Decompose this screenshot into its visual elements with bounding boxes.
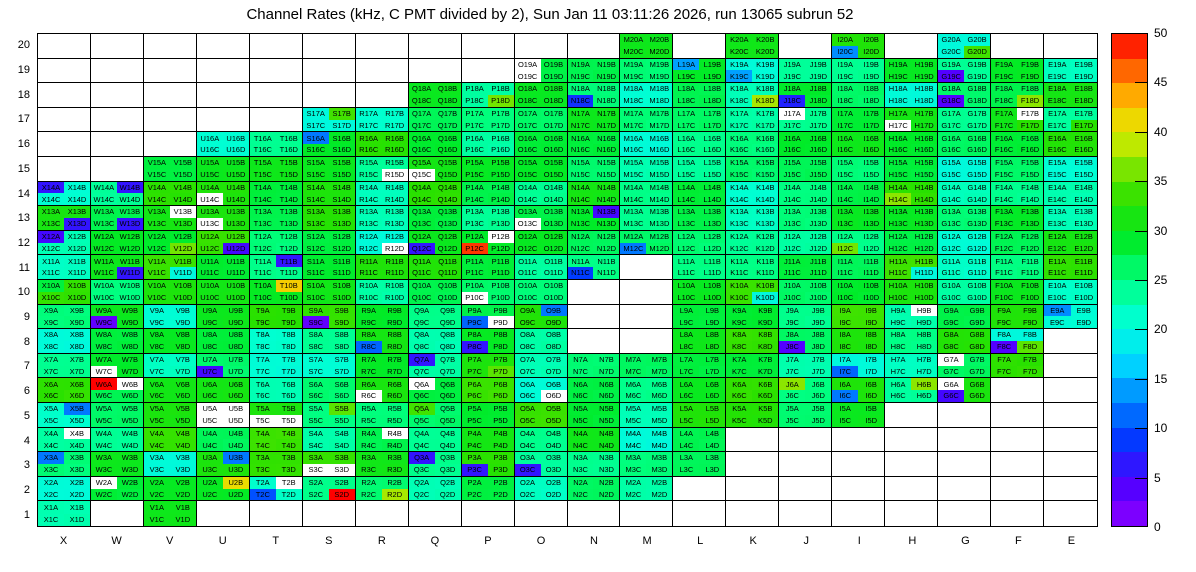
heatmap-cell[interactable]: T8AT8BT8CT8D (250, 329, 303, 354)
channel-subcell[interactable]: S9A (303, 305, 329, 317)
channel-subcell[interactable]: U4B (223, 428, 249, 440)
heatmap-cell[interactable]: M17AM17BM17CM17D (620, 108, 673, 133)
channel-subcell[interactable]: G10D (964, 292, 990, 304)
channel-subcell[interactable]: M4B (646, 428, 672, 440)
channel-subcell[interactable]: S17A (303, 108, 329, 120)
channel-subcell[interactable]: J17D (805, 120, 831, 132)
heatmap-cell[interactable]: J17AJ17BJ17CJ17D (779, 108, 832, 133)
channel-subcell[interactable]: G19C (938, 70, 964, 82)
channel-subcell[interactable]: R7A (356, 354, 382, 366)
heatmap-cell[interactable]: J5AJ5BJ5CJ5D (779, 403, 832, 428)
heatmap-cell[interactable]: G13AG13BG13CG13D (938, 206, 991, 231)
channel-subcell[interactable]: R7C (356, 366, 382, 378)
channel-subcell[interactable]: V3C (144, 464, 170, 476)
channel-subcell[interactable]: M2C (620, 489, 646, 501)
channel-subcell[interactable]: M17D (646, 120, 672, 132)
channel-subcell[interactable]: U10D (223, 292, 249, 304)
heatmap-cell[interactable]: O18AO18BO18CO18D (515, 83, 568, 108)
channel-subcell[interactable]: M6C (620, 390, 646, 402)
channel-subcell[interactable]: E14D (1071, 193, 1097, 205)
channel-subcell[interactable]: H14A (885, 182, 911, 194)
channel-subcell[interactable]: G15C (938, 169, 964, 181)
heatmap-cell[interactable] (38, 59, 91, 84)
channel-subcell[interactable]: S5B (329, 403, 355, 415)
heatmap-cell[interactable]: J12AJ12BJ12CJ12D (779, 231, 832, 256)
heatmap-cell[interactable]: F19AF19BF19CF19D (991, 59, 1044, 84)
channel-subcell[interactable]: T3B (276, 452, 302, 464)
heatmap-cell[interactable]: R12AR12BR12CR12D (356, 231, 409, 256)
heatmap-cell[interactable]: O10AO10BO10CO10D (515, 280, 568, 305)
channel-subcell[interactable]: F7A (991, 354, 1017, 366)
channel-subcell[interactable]: U3A (197, 452, 223, 464)
channel-subcell[interactable]: L12A (673, 231, 699, 243)
channel-subcell[interactable]: P5D (488, 415, 514, 427)
channel-subcell[interactable]: G16A (938, 132, 964, 144)
channel-subcell[interactable]: P2C (462, 489, 488, 501)
channel-subcell[interactable]: R15C (356, 169, 382, 181)
channel-subcell[interactable]: I8B (858, 329, 884, 341)
heatmap-cell[interactable]: K9AK9BK9CK9D (726, 305, 779, 330)
channel-subcell[interactable]: O7D (541, 366, 567, 378)
channel-subcell[interactable]: O17A (515, 108, 541, 120)
heatmap-cell[interactable]: O6AO6BO6CO6D (515, 378, 568, 403)
channel-subcell[interactable]: O2B (541, 477, 567, 489)
channel-subcell[interactable]: L14D (699, 193, 725, 205)
channel-subcell[interactable]: I17A (832, 108, 858, 120)
channel-subcell[interactable]: I9B (858, 305, 884, 317)
channel-subcell[interactable]: S14D (329, 193, 355, 205)
heatmap-cell[interactable]: E16AE16BE16CE16D (1044, 132, 1097, 157)
heatmap-cell[interactable]: P17AP17BP17CP17D (462, 108, 515, 133)
channel-subcell[interactable]: M12C (620, 243, 646, 255)
channel-subcell[interactable]: U3D (223, 464, 249, 476)
heatmap-cell[interactable]: K12AK12BK12CK12D (726, 231, 779, 256)
channel-subcell[interactable]: I9D (858, 316, 884, 328)
channel-subcell[interactable]: G12D (964, 243, 990, 255)
heatmap-cell[interactable]: S10AS10BS10CS10D (303, 280, 356, 305)
channel-subcell[interactable]: V3D (170, 464, 196, 476)
channel-subcell[interactable]: P17A (462, 108, 488, 120)
heatmap-cell[interactable]: X6AX6BX6CX6D (38, 378, 91, 403)
channel-subcell[interactable]: W7A (91, 354, 117, 366)
channel-subcell[interactable]: T5B (276, 403, 302, 415)
channel-subcell[interactable]: M5B (646, 403, 672, 415)
channel-subcell[interactable]: X3B (64, 452, 90, 464)
channel-subcell[interactable]: T5A (250, 403, 276, 415)
channel-subcell[interactable]: P4B (488, 428, 514, 440)
channel-subcell[interactable]: X14A (38, 182, 64, 194)
heatmap-cell[interactable]: Q7AQ7BQ7CQ7D (409, 354, 462, 379)
heatmap-cell[interactable]: L16AL16BL16CL16D (673, 132, 726, 157)
channel-subcell[interactable]: F7D (1017, 366, 1043, 378)
channel-subcell[interactable]: H18A (885, 83, 911, 95)
channel-subcell[interactable]: K11A (726, 255, 752, 267)
channel-subcell[interactable]: G20B (964, 34, 990, 46)
channel-subcell[interactable]: P13D (488, 218, 514, 230)
channel-subcell[interactable]: F14C (991, 193, 1017, 205)
channel-subcell[interactable]: X6A (38, 378, 64, 390)
heatmap-cell[interactable]: G10AG10BG10CG10D (938, 280, 991, 305)
channel-subcell[interactable]: G13C (938, 218, 964, 230)
channel-subcell[interactable]: O11A (515, 255, 541, 267)
heatmap-cell[interactable] (991, 428, 1044, 453)
channel-subcell[interactable]: N6C (568, 390, 594, 402)
channel-subcell[interactable]: I11A (832, 255, 858, 267)
channel-subcell[interactable]: V13A (144, 206, 170, 218)
channel-subcell[interactable]: V9A (144, 305, 170, 317)
channel-subcell[interactable]: O16A (515, 132, 541, 144)
channel-subcell[interactable]: N2A (568, 477, 594, 489)
heatmap-cell[interactable] (832, 428, 885, 453)
channel-subcell[interactable]: J16C (779, 144, 805, 156)
channel-subcell[interactable]: M15D (646, 169, 672, 181)
channel-subcell[interactable]: L17B (699, 108, 725, 120)
channel-subcell[interactable]: Q11A (409, 255, 435, 267)
channel-subcell[interactable]: U11C (197, 267, 223, 279)
heatmap-cell[interactable]: O5AO5BO5CO5D (515, 403, 568, 428)
channel-subcell[interactable]: I7D (858, 366, 884, 378)
heatmap-cell[interactable] (91, 59, 144, 84)
heatmap-cell[interactable]: T5AT5BT5CT5D (250, 403, 303, 428)
heatmap-cell[interactable]: W9AW9BW9CW9D (91, 305, 144, 330)
channel-subcell[interactable]: T3C (250, 464, 276, 476)
heatmap-cell[interactable]: M19AM19BM19CM19D (620, 59, 673, 84)
channel-subcell[interactable]: R9D (382, 316, 408, 328)
channel-subcell[interactable]: K16A (726, 132, 752, 144)
channel-subcell[interactable]: T14A (250, 182, 276, 194)
heatmap-cell[interactable]: K7AK7BK7CK7D (726, 354, 779, 379)
channel-subcell[interactable]: O3B (541, 452, 567, 464)
channel-subcell[interactable]: G11C (938, 267, 964, 279)
channel-subcell[interactable]: W6C (91, 390, 117, 402)
heatmap-cell[interactable]: U11AU11BU11CU11D (197, 255, 250, 280)
heatmap-cell[interactable]: M13AM13BM13CM13D (620, 206, 673, 231)
channel-subcell[interactable]: G20D (964, 46, 990, 58)
channel-subcell[interactable]: U9D (223, 316, 249, 328)
heatmap-cell[interactable]: V10AV10BV10CV10D (144, 280, 197, 305)
channel-subcell[interactable]: L15B (699, 157, 725, 169)
channel-subcell[interactable]: N15C (568, 169, 594, 181)
channel-subcell[interactable]: U7B (223, 354, 249, 366)
channel-subcell[interactable]: S3D (329, 464, 355, 476)
heatmap-cell[interactable]: P14AP14BP14CP14D (462, 182, 515, 207)
heatmap-cell[interactable]: Q16AQ16BQ16CQ16D (409, 132, 462, 157)
channel-subcell[interactable]: G8D (964, 341, 990, 353)
channel-subcell[interactable]: E13A (1044, 206, 1070, 218)
channel-subcell[interactable]: F11B (1017, 255, 1043, 267)
channel-subcell[interactable]: X7B (64, 354, 90, 366)
heatmap-cell[interactable]: X13AX13BX13CX13D (38, 206, 91, 231)
channel-subcell[interactable]: U7C (197, 366, 223, 378)
channel-subcell[interactable]: Q13C (409, 218, 435, 230)
channel-subcell[interactable]: K16B (752, 132, 778, 144)
channel-subcell[interactable]: X13B (64, 206, 90, 218)
heatmap-cell[interactable]: H7AH7BH7CH7D (885, 354, 938, 379)
channel-subcell[interactable]: Q16D (435, 144, 461, 156)
channel-subcell[interactable]: S7C (303, 366, 329, 378)
channel-subcell[interactable]: S2C (303, 489, 329, 501)
channel-subcell[interactable]: X5A (38, 403, 64, 415)
channel-subcell[interactable]: P16B (488, 132, 514, 144)
channel-subcell[interactable]: K13A (726, 206, 752, 218)
heatmap-cell[interactable] (250, 501, 303, 526)
heatmap-cell[interactable]: V6AV6BV6CV6D (144, 378, 197, 403)
channel-subcell[interactable]: N13D (593, 218, 619, 230)
channel-subcell[interactable]: L10B (699, 280, 725, 292)
channel-subcell[interactable]: X3A (38, 452, 64, 464)
channel-subcell[interactable]: V12B (170, 231, 196, 243)
channel-subcell[interactable]: R2D (382, 489, 408, 501)
heatmap-cell[interactable]: X8AX8BX8CX8D (38, 329, 91, 354)
channel-subcell[interactable]: M3A (620, 452, 646, 464)
heatmap-cell[interactable]: I6AI6BI6CI6D (832, 378, 885, 403)
heatmap-cell[interactable]: J14AJ14BJ14CJ14D (779, 182, 832, 207)
channel-subcell[interactable]: M6B (646, 378, 672, 390)
channel-subcell[interactable]: V1C (144, 514, 170, 526)
heatmap-cell[interactable] (144, 34, 197, 59)
channel-subcell[interactable]: X9A (38, 305, 64, 317)
channel-subcell[interactable]: O14A (515, 182, 541, 194)
heatmap-cell[interactable]: X2AX2BX2CX2D (38, 477, 91, 502)
channel-subcell[interactable]: Q17B (435, 108, 461, 120)
channel-subcell[interactable]: G17B (964, 108, 990, 120)
heatmap-cell[interactable]: T10AT10BT10CT10D (250, 280, 303, 305)
channel-subcell[interactable]: T16C (250, 144, 276, 156)
channel-subcell[interactable]: L7C (673, 366, 699, 378)
heatmap-cell[interactable]: M4AM4BM4CM4D (620, 428, 673, 453)
channel-subcell[interactable]: L9B (699, 305, 725, 317)
channel-subcell[interactable]: S4A (303, 428, 329, 440)
channel-subcell[interactable]: K12D (752, 243, 778, 255)
channel-subcell[interactable]: J12C (779, 243, 805, 255)
channel-subcell[interactable]: Q11D (435, 267, 461, 279)
channel-subcell[interactable]: I17C (832, 120, 858, 132)
channel-subcell[interactable]: J5C (779, 415, 805, 427)
channel-subcell[interactable]: G18D (964, 95, 990, 107)
channel-subcell[interactable]: S11B (329, 255, 355, 267)
channel-subcell[interactable]: T13B (276, 206, 302, 218)
heatmap-cell[interactable]: N7AN7BN7CN7D (568, 354, 621, 379)
heatmap-cell[interactable]: N15AN15BN15CN15D (568, 157, 621, 182)
channel-subcell[interactable]: U14D (223, 193, 249, 205)
heatmap-cell[interactable]: G7AG7BG7CG7D (938, 354, 991, 379)
heatmap-cell[interactable]: O19AO19BO19CO19D (515, 59, 568, 84)
channel-subcell[interactable]: V11B (170, 255, 196, 267)
heatmap-cell[interactable]: G16AG16BG16CG16D (938, 132, 991, 157)
heatmap-cell[interactable] (991, 403, 1044, 428)
heatmap-cell[interactable]: U10AU10BU10CU10D (197, 280, 250, 305)
heatmap-cell[interactable]: X12AX12BX12CX12D (38, 231, 91, 256)
channel-subcell[interactable]: W9A (91, 305, 117, 317)
channel-subcell[interactable]: S10A (303, 280, 329, 292)
channel-subcell[interactable]: H11A (885, 255, 911, 267)
channel-subcell[interactable]: S11C (303, 267, 329, 279)
channel-subcell[interactable]: P10C (462, 292, 488, 304)
heatmap-cell[interactable]: U13AU13BU13CU13D (197, 206, 250, 231)
channel-subcell[interactable]: X3D (64, 464, 90, 476)
channel-subcell[interactable]: U6A (197, 378, 223, 390)
channel-subcell[interactable]: F10A (991, 280, 1017, 292)
channel-subcell[interactable]: F18A (991, 83, 1017, 95)
channel-subcell[interactable]: J12B (805, 231, 831, 243)
heatmap-cell[interactable]: E15AE15BE15CE15D (1044, 157, 1097, 182)
heatmap-cell[interactable] (938, 477, 991, 502)
heatmap-cell[interactable]: N19AN19BN19CN19D (568, 59, 621, 84)
heatmap-cell[interactable]: W5AW5BW5CW5D (91, 403, 144, 428)
channel-subcell[interactable]: H17B (911, 108, 937, 120)
channel-subcell[interactable]: N12A (568, 231, 594, 243)
channel-subcell[interactable]: H13D (911, 218, 937, 230)
channel-subcell[interactable]: Q14C (409, 193, 435, 205)
channel-subcell[interactable]: H8A (885, 329, 911, 341)
channel-subcell[interactable]: F16C (991, 144, 1017, 156)
heatmap-cell[interactable] (197, 108, 250, 133)
channel-subcell[interactable]: G17D (964, 120, 990, 132)
channel-subcell[interactable]: W2C (91, 489, 117, 501)
channel-subcell[interactable]: M13D (646, 218, 672, 230)
heatmap-cell[interactable] (1044, 354, 1097, 379)
heatmap-cell[interactable]: L9AL9BL9CL9D (673, 305, 726, 330)
heatmap-cell[interactable]: P2AP2BP2CP2D (462, 477, 515, 502)
channel-subcell[interactable]: Q9C (409, 316, 435, 328)
channel-subcell[interactable]: S17C (303, 120, 329, 132)
channel-subcell[interactable]: L16D (699, 144, 725, 156)
heatmap-cell[interactable] (250, 34, 303, 59)
heatmap-cell[interactable]: U6AU6BU6CU6D (197, 378, 250, 403)
heatmap-cell[interactable]: O4AO4BO4CO4D (515, 428, 568, 453)
channel-subcell[interactable]: O7B (541, 354, 567, 366)
channel-subcell[interactable]: J8B (805, 329, 831, 341)
channel-subcell[interactable]: K19B (752, 59, 778, 71)
channel-subcell[interactable]: H18B (911, 83, 937, 95)
channel-subcell[interactable]: T16B (276, 132, 302, 144)
channel-subcell[interactable]: Q16A (409, 132, 435, 144)
channel-subcell[interactable]: E12D (1071, 243, 1097, 255)
channel-subcell[interactable]: F14D (1017, 193, 1043, 205)
heatmap-cell[interactable] (885, 428, 938, 453)
channel-subcell[interactable]: N2C (568, 489, 594, 501)
channel-subcell[interactable]: J6C (779, 390, 805, 402)
channel-subcell[interactable]: H9B (911, 305, 937, 317)
heatmap-cell[interactable] (1044, 378, 1097, 403)
heatmap-cell[interactable]: U2AU2BU2CU2D (197, 477, 250, 502)
channel-subcell[interactable]: J7C (779, 366, 805, 378)
heatmap-cell[interactable]: F17AF17BF17CF17D (991, 108, 1044, 133)
channel-subcell[interactable]: V13C (144, 218, 170, 230)
heatmap-cell[interactable]: T2AT2BT2CT2D (250, 477, 303, 502)
channel-subcell[interactable]: P5C (462, 415, 488, 427)
channel-subcell[interactable]: H9A (885, 305, 911, 317)
channel-subcell[interactable]: V15A (144, 157, 170, 169)
heatmap-cell[interactable]: S8AS8BS8CS8D (303, 329, 356, 354)
channel-subcell[interactable]: L3B (699, 452, 725, 464)
channel-subcell[interactable]: W2B (117, 477, 143, 489)
heatmap-cell[interactable]: I8AI8BI8CI8D (832, 329, 885, 354)
heatmap-cell[interactable]: F16AF16BF16CF16D (991, 132, 1044, 157)
channel-subcell[interactable]: I5A (832, 403, 858, 415)
channel-subcell[interactable]: J10A (779, 280, 805, 292)
heatmap-cell[interactable]: W14AW14BW14CW14D (91, 182, 144, 207)
heatmap-cell[interactable]: G9AG9BG9CG9D (938, 305, 991, 330)
channel-subcell[interactable]: R10C (356, 292, 382, 304)
heatmap-cell[interactable]: P16AP16BP16CP16D (462, 132, 515, 157)
channel-subcell[interactable]: E18D (1071, 95, 1097, 107)
channel-subcell[interactable]: I20B (858, 34, 884, 46)
channel-subcell[interactable]: I11D (858, 267, 884, 279)
channel-subcell[interactable]: S10B (329, 280, 355, 292)
heatmap-cell[interactable]: L8AL8BL8CL8D (673, 329, 726, 354)
heatmap-cell[interactable]: N16AN16BN16CN16D (568, 132, 621, 157)
channel-subcell[interactable]: X2C (38, 489, 64, 501)
channel-subcell[interactable]: X2D (64, 489, 90, 501)
heatmap-cell[interactable]: R6AR6BR6CR6D (356, 378, 409, 403)
channel-subcell[interactable]: I20D (858, 46, 884, 58)
channel-subcell[interactable]: R6B (382, 378, 408, 390)
channel-subcell[interactable]: J12D (805, 243, 831, 255)
heatmap-cell[interactable]: U7AU7BU7CU7D (197, 354, 250, 379)
channel-subcell[interactable]: Q8D (435, 341, 461, 353)
channel-subcell[interactable]: O6D (541, 390, 567, 402)
channel-subcell[interactable]: X14C (38, 193, 64, 205)
channel-subcell[interactable]: T16D (276, 144, 302, 156)
heatmap-cell[interactable]: P9AP9BP9CP9D (462, 305, 515, 330)
channel-subcell[interactable]: H14D (911, 193, 937, 205)
channel-subcell[interactable]: H6C (885, 390, 911, 402)
heatmap-cell[interactable] (620, 501, 673, 526)
channel-subcell[interactable]: L7B (699, 354, 725, 366)
channel-subcell[interactable]: F15A (991, 157, 1017, 169)
channel-subcell[interactable]: K5C (726, 415, 752, 427)
channel-subcell[interactable]: I5C (832, 415, 858, 427)
channel-subcell[interactable]: J6D (805, 390, 831, 402)
channel-subcell[interactable]: E9A (1044, 305, 1070, 317)
heatmap-cell[interactable]: Q18AQ18BQ18CQ18D (409, 83, 462, 108)
channel-subcell[interactable]: V1B (170, 501, 196, 513)
channel-subcell[interactable]: Q10A (409, 280, 435, 292)
channel-subcell[interactable]: I6C (832, 390, 858, 402)
heatmap-cell[interactable]: U15AU15BU15CU15D (197, 157, 250, 182)
heatmap-cell[interactable] (91, 157, 144, 182)
channel-subcell[interactable]: Q9D (435, 316, 461, 328)
heatmap-cell[interactable]: J8AJ8BJ8CJ8D (779, 329, 832, 354)
heatmap-cell[interactable]: O9AO9BO9CO9D (515, 305, 568, 330)
heatmap-cell[interactable]: K14AK14BK14CK14D (726, 182, 779, 207)
channel-subcell[interactable]: Q6B (435, 378, 461, 390)
channel-subcell[interactable]: P14A (462, 182, 488, 194)
channel-subcell[interactable]: K9A (726, 305, 752, 317)
channel-subcell[interactable]: M4D (646, 439, 672, 451)
heatmap-cell[interactable]: V13AV13BV13CV13D (144, 206, 197, 231)
channel-subcell[interactable]: N19B (593, 59, 619, 71)
channel-subcell[interactable]: O17D (541, 120, 567, 132)
channel-subcell[interactable]: O9D (541, 316, 567, 328)
heatmap-cell[interactable] (620, 329, 673, 354)
heatmap-cell[interactable] (938, 452, 991, 477)
channel-subcell[interactable]: X11A (38, 255, 64, 267)
heatmap-cell[interactable]: X3AX3BX3CX3D (38, 452, 91, 477)
heatmap-cell[interactable]: L14AL14BL14CL14D (673, 182, 726, 207)
channel-subcell[interactable]: U5A (197, 403, 223, 415)
channel-subcell[interactable]: G19B (964, 59, 990, 71)
channel-subcell[interactable]: S10D (329, 292, 355, 304)
channel-subcell[interactable]: G8B (964, 329, 990, 341)
channel-subcell[interactable]: T2B (276, 477, 302, 489)
channel-subcell[interactable]: T8B (276, 329, 302, 341)
heatmap-cell[interactable] (620, 280, 673, 305)
channel-subcell[interactable]: L11D (699, 267, 725, 279)
heatmap-cell[interactable]: Q5AQ5BQ5CQ5D (409, 403, 462, 428)
heatmap-cell[interactable]: N14AN14BN14CN14D (568, 182, 621, 207)
